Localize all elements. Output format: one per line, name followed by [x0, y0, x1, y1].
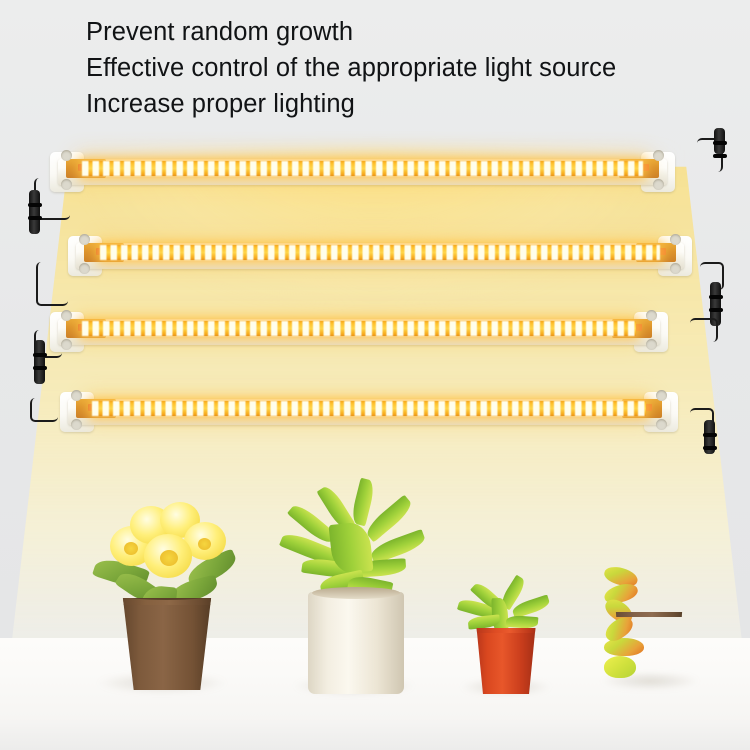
flower-center — [198, 538, 211, 550]
plant-small-green — [466, 588, 546, 694]
mount-hole-1a — [61, 150, 72, 161]
led-bar-2 — [48, 232, 712, 278]
mount-hole-1d — [653, 179, 664, 190]
mount-hole-2c — [670, 234, 681, 245]
cable-bar-2 — [36, 262, 68, 306]
led-bar-3 — [30, 308, 688, 354]
mount-hole-1b — [61, 179, 72, 190]
mount-hole-3b — [61, 339, 72, 350]
mount-hole-2d — [670, 263, 681, 274]
led-bar-4 — [40, 388, 698, 434]
connector-plug-1r — [714, 128, 725, 154]
headline-line-1: Prevent random growth — [86, 14, 736, 50]
mount-hole-4c — [656, 390, 667, 401]
mount-hole-4d — [656, 419, 667, 430]
led-strip-2 — [100, 245, 660, 260]
headline-line-3: Increase proper lighting — [86, 86, 736, 122]
connector-plug-1 — [29, 190, 40, 234]
led-strip-4 — [92, 401, 646, 416]
connector-plug-4 — [704, 420, 715, 454]
mount-hole-1c — [653, 150, 664, 161]
scene: Prevent random growth Effective control … — [0, 0, 750, 750]
led-diodes-3 — [82, 321, 636, 336]
mount-hole-4a — [71, 390, 82, 401]
pot-cream-cylinder — [308, 592, 404, 694]
headline-line-2: Effective control of the appropriate lig… — [86, 50, 736, 86]
led-diodes-4 — [92, 401, 646, 416]
pot-brown-round — [118, 598, 216, 690]
led-bar-1 — [30, 148, 695, 194]
led-diodes-1 — [82, 161, 643, 176]
led-diodes-2 — [100, 245, 660, 260]
cable-bar-3-right — [690, 318, 718, 342]
pot-rim — [312, 587, 400, 599]
mount-hole-3d — [646, 339, 657, 350]
plant-succulent — [604, 568, 694, 694]
mount-hole-3c — [646, 310, 657, 321]
pot-brown-square — [613, 612, 685, 694]
mount-hole-4b — [71, 419, 82, 430]
led-strip-1 — [82, 161, 643, 176]
flower-center — [124, 542, 138, 555]
leaf — [506, 615, 539, 629]
cable-bar-4 — [30, 398, 58, 422]
flower-center — [160, 550, 178, 566]
headline-block: Prevent random growth Effective control … — [86, 14, 736, 122]
led-strip-3 — [82, 321, 636, 336]
connector-plug-3 — [34, 340, 45, 384]
mount-hole-3a — [61, 310, 72, 321]
mount-hole-2a — [79, 234, 90, 245]
mount-hole-2b — [79, 263, 90, 274]
pot-red-plastic — [474, 628, 538, 694]
plant-green-fern — [296, 498, 416, 694]
plant-yellow-flowers — [108, 500, 228, 690]
